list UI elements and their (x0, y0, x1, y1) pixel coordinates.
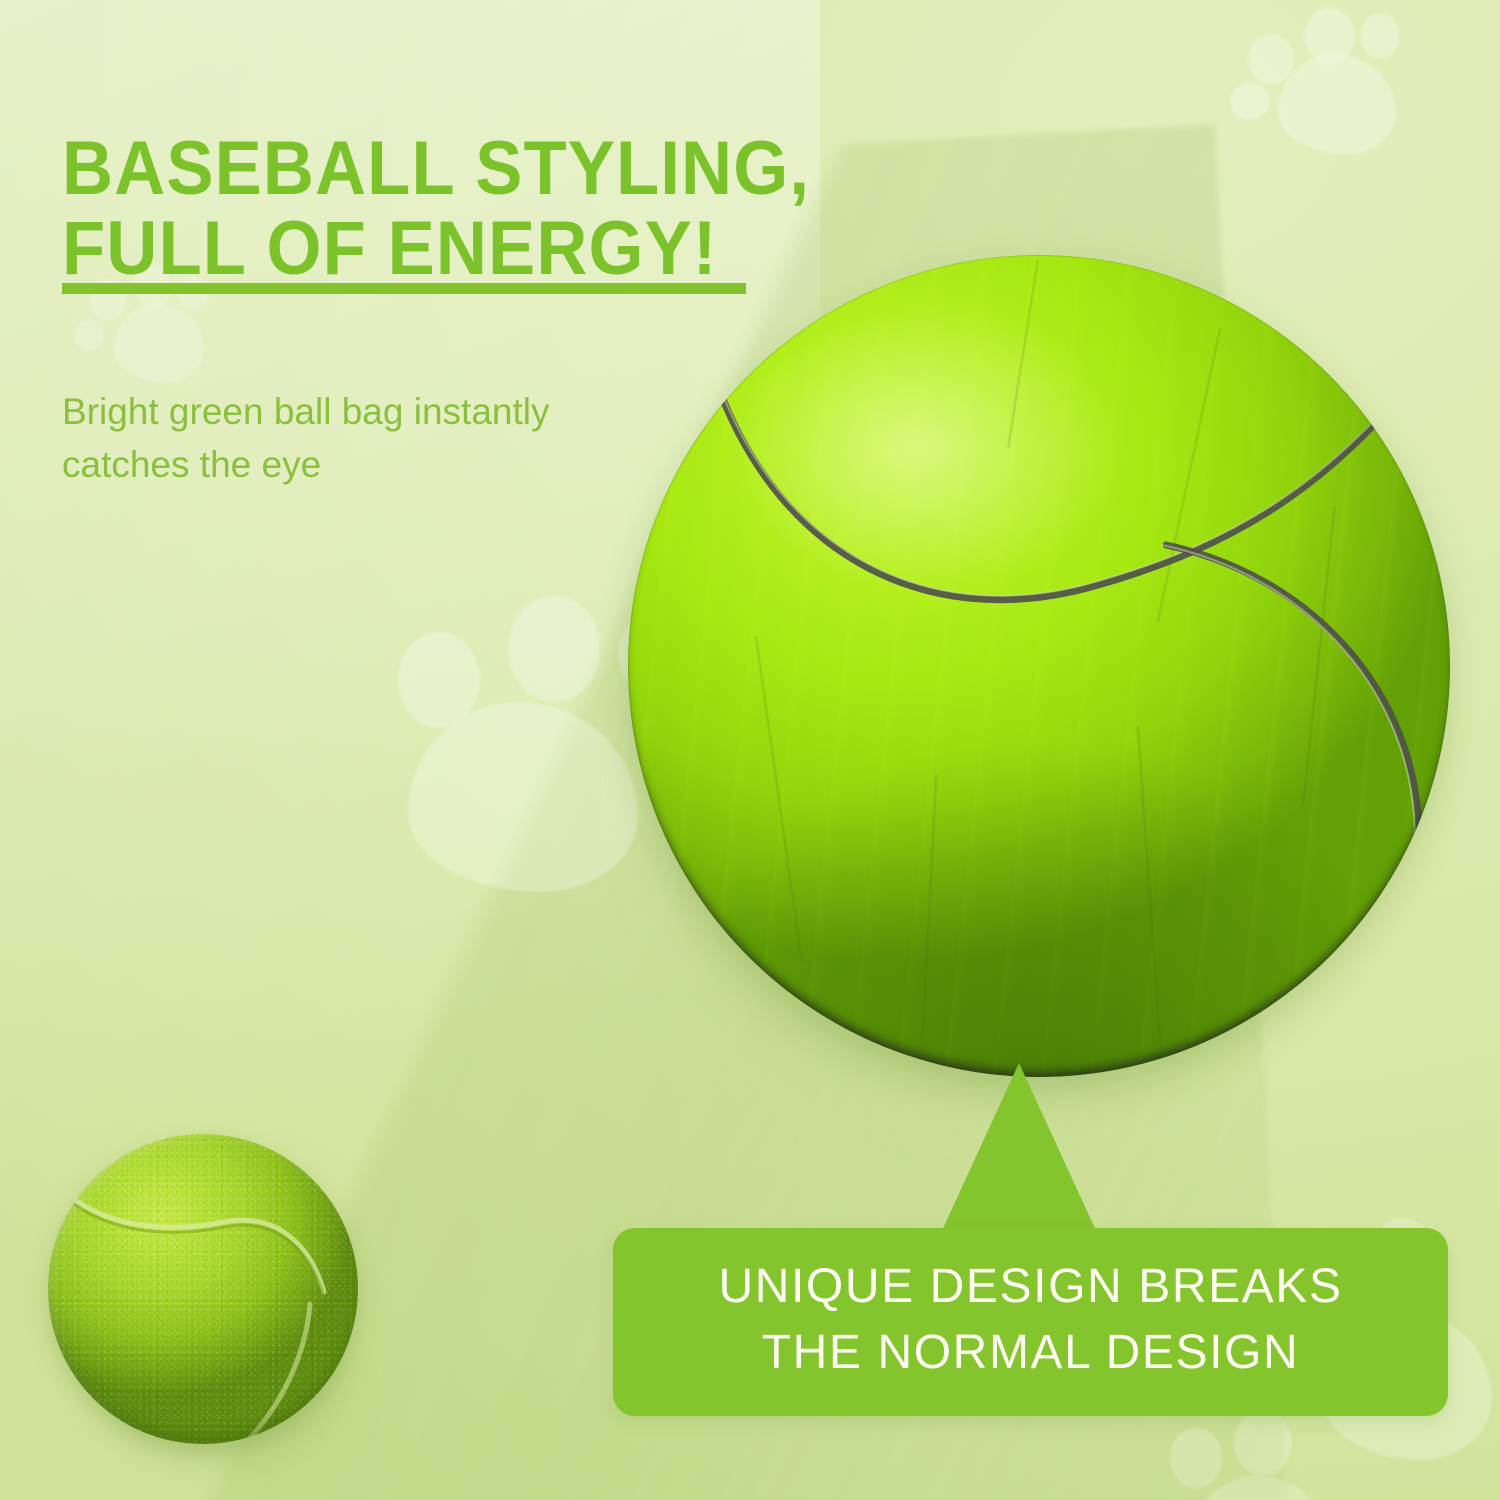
triangle-pointer-icon (940, 1063, 1098, 1235)
callout-banner: UNIQUE DESIGN BREAKS THE NORMAL DESIGN (613, 1228, 1448, 1416)
mini-ball-rim (48, 1134, 358, 1444)
mini-ball-body (48, 1134, 358, 1444)
paw-print-icon (1218, 8, 1418, 168)
subtitle-text: Bright green ball bag instantly catches … (62, 385, 712, 491)
ball-body (628, 255, 1450, 1077)
page-title: BASEBALL STYLING, FULL OF ENERGY! (62, 129, 880, 289)
title-divider (62, 283, 746, 294)
ball-edge-rim (628, 255, 1450, 1077)
standard-tennis-ball (42, 1128, 372, 1458)
callout-banner-text: UNIQUE DESIGN BREAKS THE NORMAL DESIGN (613, 1254, 1448, 1386)
paw-print-icon (1150, 1410, 1350, 1500)
oversized-tennis-ball-bag (628, 255, 1450, 1077)
product-feature-image: BASEBALL STYLING, FULL OF ENERGY! Bright… (0, 0, 1500, 1500)
